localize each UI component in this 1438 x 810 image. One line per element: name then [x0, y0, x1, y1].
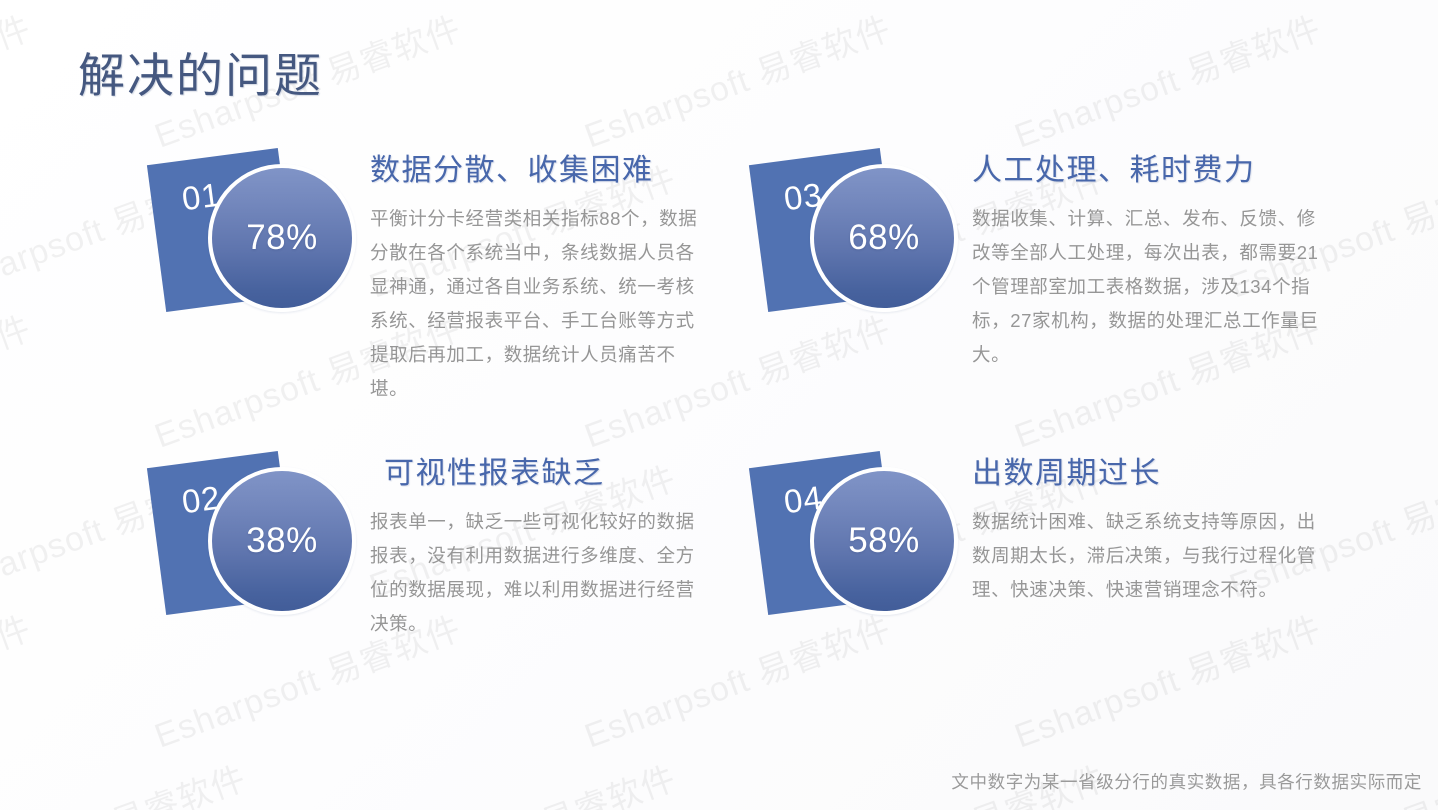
watermark-text: Esharpsoft 易睿软件: [0, 301, 37, 458]
card-text-block: 数据分散、收集困难 平衡计分卡经营类相关指标88个，数据分散在各个系统当中，条线…: [370, 140, 710, 406]
card-body: 平衡计分卡经营类相关指标88个，数据分散在各个系统当中，条线数据人员各显神通，通…: [370, 202, 710, 406]
footnote: 文中数字为某一省级分行的真实数据，具各行数据实际而定: [951, 769, 1422, 794]
watermark-text: Esharpsoft 易睿软件: [0, 0, 252, 8]
problem-card-01: 01 78% 数据分散、收集困难 平衡计分卡经营类相关指标88个，数据分散在各个…: [150, 140, 710, 406]
badge-circle-icon: 78%: [208, 164, 356, 312]
badge-index-label: 02: [180, 479, 223, 522]
card-heading: 人工处理、耗时费力: [972, 152, 1322, 190]
problem-card-03: 03 68% 人工处理、耗时费力 数据收集、计算、汇总、发布、反馈、修改等全部人…: [752, 140, 1322, 372]
card-heading: 出数周期过长: [972, 455, 1322, 493]
badge-03: 03 68%: [752, 140, 972, 340]
card-text-block: 可视性报表缺乏 报表单一，缺乏一些可视化较好的数据报表，没有利用数据进行多维度、…: [370, 443, 710, 641]
badge-circle-icon: 58%: [810, 467, 958, 615]
badge-circle-icon: 68%: [810, 164, 958, 312]
badge-index-label: 01: [180, 176, 223, 219]
watermark-text: Esharpsoft 易睿软件: [1007, 1, 1327, 158]
card-heading: 可视性报表缺乏: [370, 455, 710, 493]
watermark-text: Esharpsoft 易睿软件: [1222, 0, 1438, 8]
problem-card-04: 04 58% 出数周期过长 数据统计困难、缺乏系统支持等原因，出数周期太长，滞后…: [752, 443, 1322, 643]
badge-index-label: 04: [782, 479, 825, 522]
card-body: 数据统计困难、缺乏系统支持等原因，出数周期太长，滞后决策，与我行过程化管理、快速…: [972, 505, 1322, 607]
badge-circle-icon: 38%: [208, 467, 356, 615]
card-text-block: 出数周期过长 数据统计困难、缺乏系统支持等原因，出数周期太长，滞后决策，与我行过…: [972, 443, 1322, 607]
watermark-text: Esharpsoft 易睿软件: [0, 1, 37, 158]
page-title: 解决的问题: [78, 49, 323, 103]
card-heading: 数据分散、收集困难: [370, 152, 710, 190]
watermark-text: Esharpsoft 易睿软件: [0, 751, 252, 810]
badge-02: 02 38%: [150, 443, 370, 643]
badge-index-label: 03: [782, 176, 825, 219]
problem-card-02: 02 38% 可视性报表缺乏 报表单一，缺乏一些可视化较好的数据报表，没有利用数…: [150, 443, 710, 643]
badge-percent-value: 58%: [848, 521, 920, 561]
badge-01: 01 78%: [150, 140, 370, 340]
badge-percent-value: 68%: [848, 218, 920, 258]
badge-percent-value: 38%: [246, 521, 318, 561]
slide-canvas: Esharpsoft 易睿软件Esharpsoft 易睿软件Esharpsoft…: [0, 0, 1438, 810]
card-text-block: 人工处理、耗时费力 数据收集、计算、汇总、发布、反馈、修改等全部人工处理，每次出…: [972, 140, 1322, 372]
watermark-text: Esharpsoft 易睿软件: [577, 1, 897, 158]
watermark-text: Esharpsoft 易睿软件: [362, 751, 682, 810]
card-body: 报表单一，缺乏一些可视化较好的数据报表，没有利用数据进行多维度、全方位的数据展现…: [370, 505, 710, 641]
watermark-text: Esharpsoft 易睿软件: [362, 0, 682, 8]
watermark-text: Esharpsoft 易睿软件: [792, 0, 1112, 8]
card-body: 数据收集、计算、汇总、发布、反馈、修改等全部人工处理，每次出表，都需要21个管理…: [972, 202, 1322, 372]
watermark-text: Esharpsoft 易睿软件: [0, 601, 37, 758]
badge-percent-value: 78%: [246, 218, 318, 258]
badge-04: 04 58%: [752, 443, 972, 643]
